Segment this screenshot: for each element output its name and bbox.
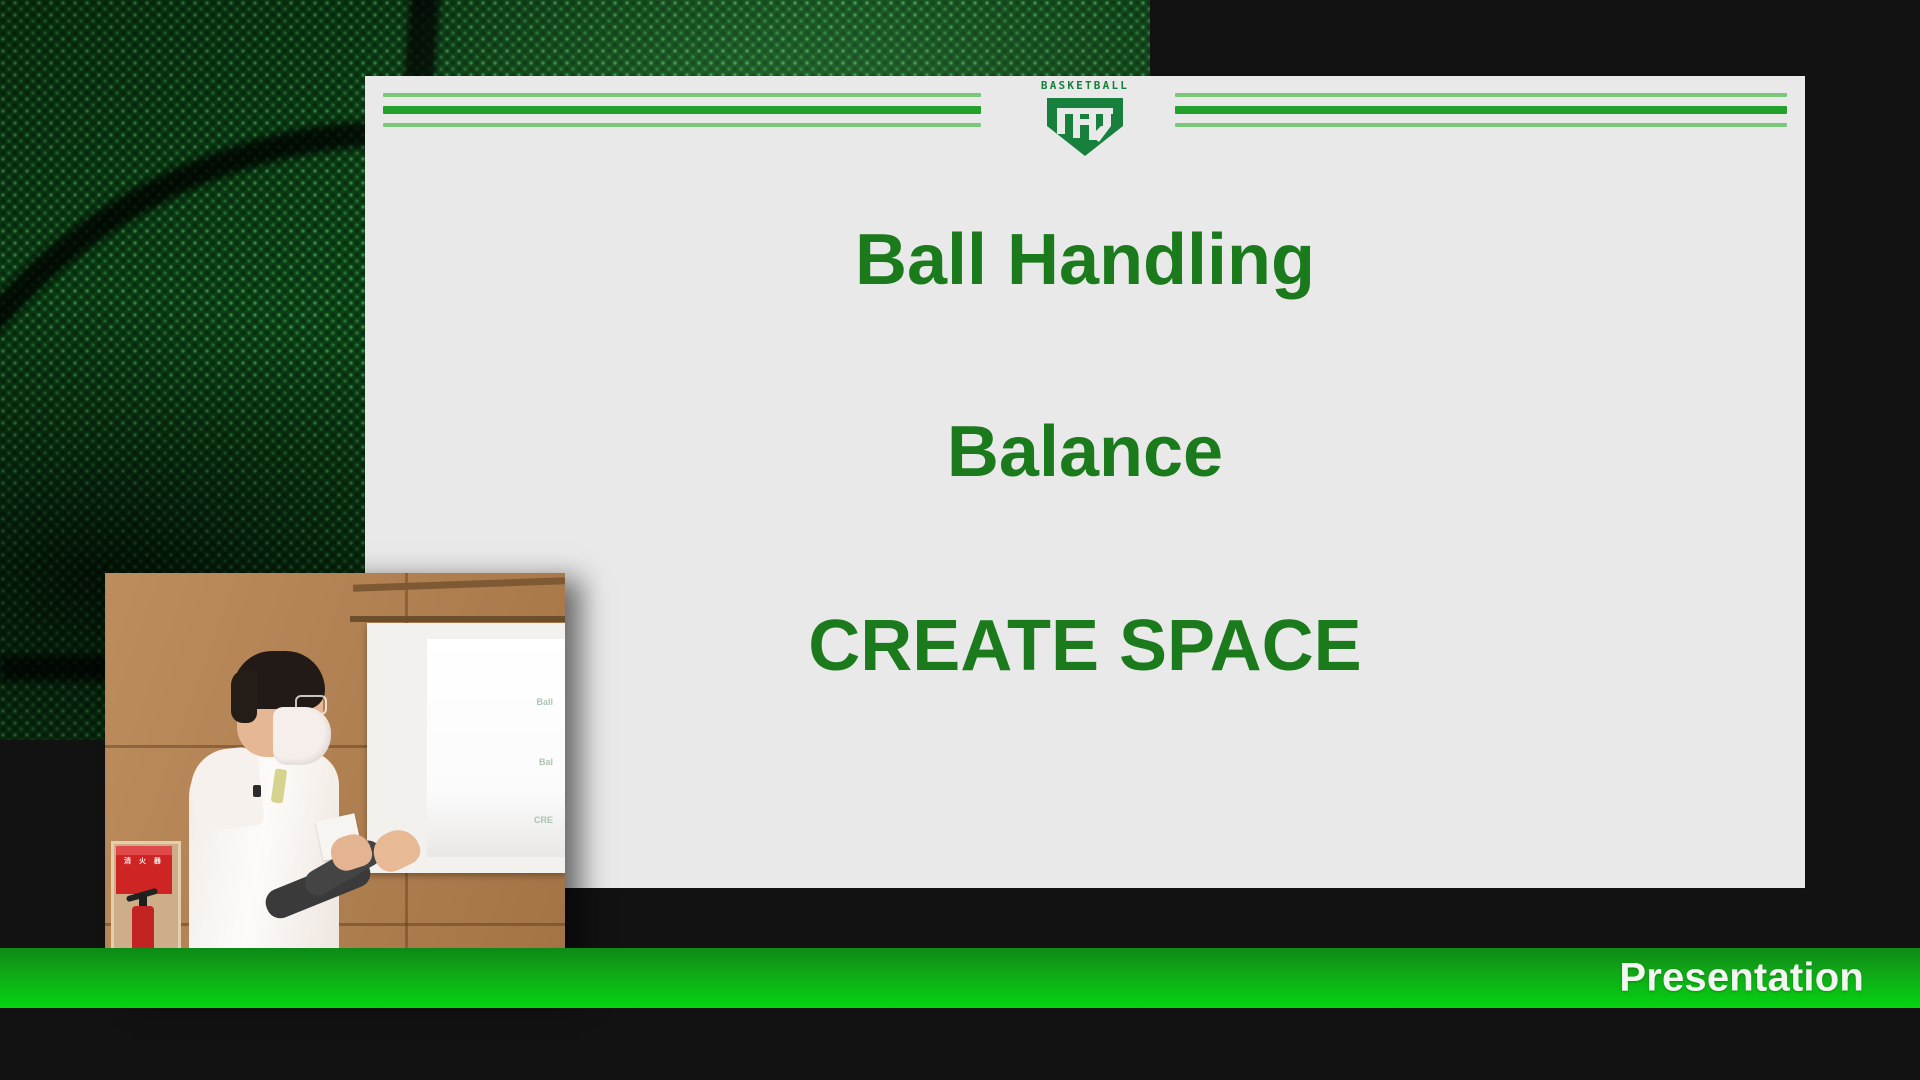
rule-thin-top-left — [383, 93, 981, 97]
fire-extinguisher-sign: 消 火 器 — [116, 846, 172, 894]
projector-screen-bar — [350, 616, 565, 622]
rule-thick-left — [383, 106, 981, 114]
slide-line-3: CREATE SPACE — [365, 610, 1805, 682]
logo-wordmark: BASKETBALL — [1020, 76, 1150, 91]
clip-microphone-icon — [253, 785, 261, 797]
rule-thin-bottom-right — [1175, 123, 1787, 127]
slide-line-2: Balance — [365, 416, 1805, 488]
banner-label: Presentation — [1619, 956, 1864, 1001]
header-rules-left — [383, 93, 981, 131]
sign-text-jp: 消 火 器 — [116, 856, 172, 866]
slide-panel: BASKETBALL Ball Handling Balance CREATE … — [365, 76, 1805, 888]
presenter-hair-side — [231, 669, 257, 723]
shield-icon — [1043, 96, 1127, 158]
slide-header: BASKETBALL — [365, 76, 1805, 162]
rule-thin-bottom-left — [383, 123, 981, 127]
projected-line-2: Bal — [539, 757, 553, 767]
slide-line-1: Ball Handling — [365, 224, 1805, 296]
projected-line-1: Ball — [536, 697, 553, 707]
projected-line-3: CRE — [534, 815, 553, 825]
presenter-video-feed[interactable]: Ball Bal CRE 消 火 器 — [105, 573, 565, 1008]
bottom-banner: Presentation — [0, 948, 1920, 1008]
slide-body: Ball Handling Balance CREATE SPACE — [365, 180, 1805, 682]
team-logo: BASKETBALL — [1020, 76, 1150, 160]
header-rules-right — [1175, 93, 1787, 131]
presentation-stage: BASKETBALL Ball Handling Balance CREATE … — [0, 0, 1920, 1080]
rule-thick-right — [1175, 106, 1787, 114]
sign-header-bar — [116, 846, 172, 855]
rule-thin-top-right — [1175, 93, 1787, 97]
